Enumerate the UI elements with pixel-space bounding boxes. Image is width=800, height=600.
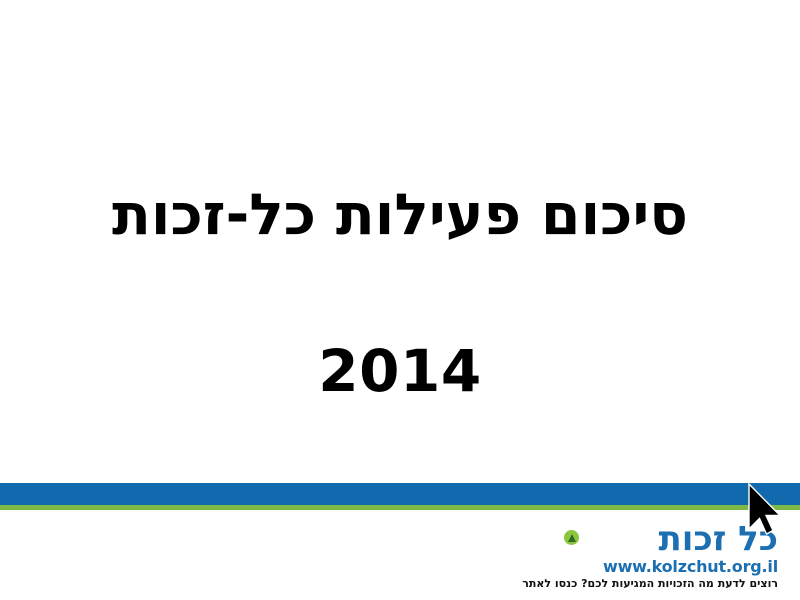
- logo-green-circle-icon: [562, 528, 581, 547]
- year-block: 2014: [0, 340, 800, 403]
- logo-word-zchut: זכות: [659, 519, 727, 559]
- page-title: סיכום פעילות כל-זכות: [0, 185, 800, 247]
- green-divider-bar: [0, 505, 800, 510]
- logo-dot-inner-icon: [568, 534, 576, 542]
- blue-divider-bar: [0, 483, 800, 505]
- logo-word-kol: כל: [738, 519, 778, 559]
- slide-year: 2014: [0, 340, 800, 403]
- brand-logo[interactable]: כל זכות www.kolzchut.org.il רוצים לדעת מ…: [522, 522, 778, 591]
- logo-wordmark: כל זכות: [522, 522, 778, 556]
- title-block: סיכום פעילות כל-זכות: [0, 185, 800, 247]
- presentation-slide: סיכום פעילות כל-זכות 2014 כל זכות www.ko…: [0, 0, 800, 600]
- logo-wordmark-space: [726, 519, 738, 559]
- logo-website-url[interactable]: www.kolzchut.org.il: [522, 558, 778, 576]
- logo-tagline: רוצים לדעת מה הזכויות המגיעות לכם? כנסו …: [522, 577, 778, 590]
